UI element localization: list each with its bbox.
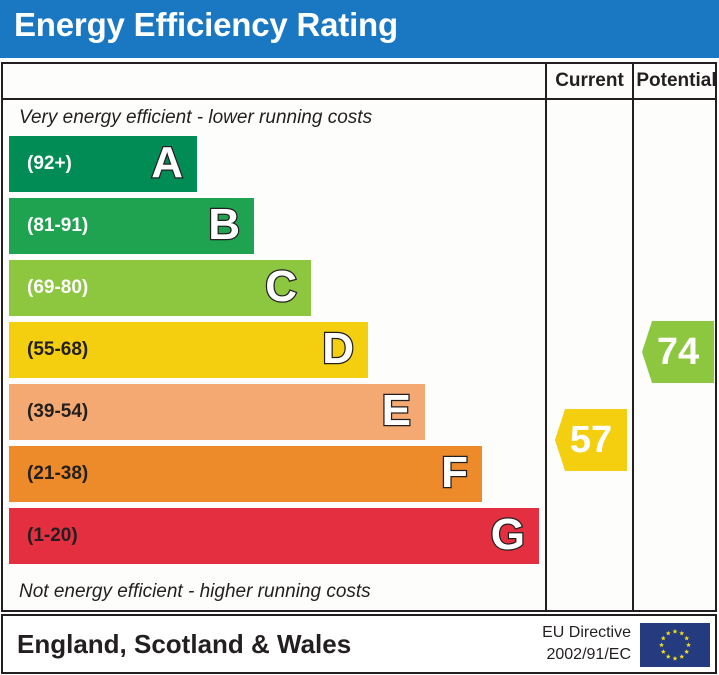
table-header-row: Current Potential <box>3 64 715 100</box>
band-range-f: (21-38) <box>27 446 88 502</box>
eu-flag-icon <box>640 623 710 667</box>
column-divider-potential <box>632 100 634 610</box>
band-range-c: (69-80) <box>27 260 88 316</box>
footer-region-label: England, Scotland & Wales <box>17 616 351 672</box>
band-letter-b: B <box>208 198 240 254</box>
band-row-g: (1-20)G <box>9 508 539 564</box>
band-letter-e: E <box>382 384 411 440</box>
band-range-d: (55-68) <box>27 322 88 378</box>
epc-certificate: Energy Efficiency Rating Current Potenti… <box>0 0 719 675</box>
band-row-f: (21-38)F <box>9 446 482 502</box>
rating-marker-current: 57 <box>555 409 627 471</box>
band-range-b: (81-91) <box>27 198 88 254</box>
column-header-potential: Potential <box>632 64 719 98</box>
footer-directive-line2: 2002/91/EC <box>513 644 631 666</box>
band-row-c: (69-80)C <box>9 260 311 316</box>
band-letter-f: F <box>441 446 468 502</box>
footer-bar: England, Scotland & Wales EU Directive 2… <box>1 614 717 674</box>
footer-directive-line1: EU Directive <box>513 622 631 644</box>
footer-directive: EU Directive 2002/91/EC <box>513 622 631 666</box>
band-row-b: (81-91)B <box>9 198 254 254</box>
page-title: Energy Efficiency Rating <box>14 6 398 44</box>
rating-table: Current Potential Very energy efficient … <box>1 62 717 612</box>
band-range-e: (39-54) <box>27 384 88 440</box>
column-header-current: Current <box>545 64 632 98</box>
rating-marker-potential: 74 <box>642 321 714 383</box>
band-row-d: (55-68)D <box>9 322 368 378</box>
title-bar: Energy Efficiency Rating <box>0 0 719 58</box>
band-letter-g: G <box>491 508 525 564</box>
band-range-a: (92+) <box>27 136 72 192</box>
band-letter-a: A <box>151 136 183 192</box>
band-row-a: (92+)A <box>9 136 197 192</box>
band-range-g: (1-20) <box>27 508 78 564</box>
band-row-e: (39-54)E <box>9 384 425 440</box>
note-inefficient: Not energy efficient - higher running co… <box>3 574 545 610</box>
column-divider-current <box>545 100 547 610</box>
note-efficient: Very energy efficient - lower running co… <box>3 100 545 136</box>
band-letter-c: C <box>265 260 297 316</box>
band-letter-d: D <box>322 322 354 378</box>
bands-area: Very energy efficient - lower running co… <box>3 100 545 610</box>
